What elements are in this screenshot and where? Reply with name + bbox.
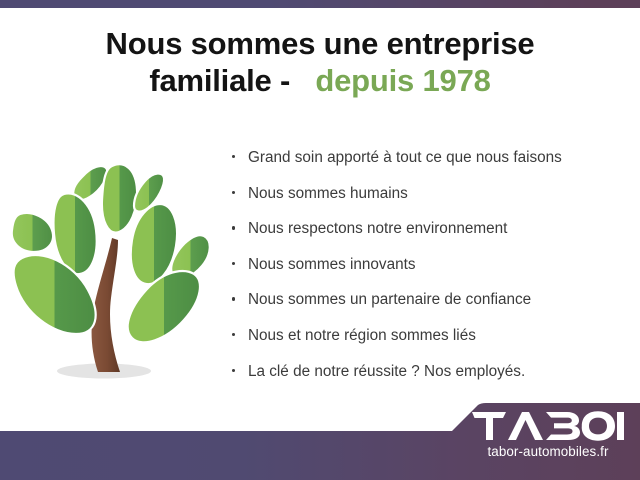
list-item: La clé de notre réussite ? Nos employés. xyxy=(228,362,628,381)
headline-accent-year: depuis 1978 xyxy=(315,63,490,98)
bullet-dot-icon xyxy=(232,297,235,300)
list-item-label: Nous respectons notre environnement xyxy=(248,220,507,237)
slide-canvas: Nous sommes une entreprise familiale - d… xyxy=(0,0,640,480)
headline-line-2: familiale - depuis 1978 xyxy=(0,63,640,100)
bullet-dot-icon xyxy=(232,369,235,372)
headline-line-2-prefix: familiale - xyxy=(149,63,290,98)
tree-illustration xyxy=(8,148,220,392)
list-item: Nous sommes un partenaire de confiance xyxy=(228,290,628,309)
headline-line-1: Nous sommes une entreprise xyxy=(106,26,535,61)
bullet-dot-icon xyxy=(232,333,235,336)
top-accent-bar xyxy=(0,0,640,8)
page-title: Nous sommes une entreprise familiale - d… xyxy=(0,26,640,99)
benefits-list: Grand soin apporté à tout ce que nous fa… xyxy=(228,148,628,397)
logo-url-label: tabor-automobiles.fr xyxy=(472,444,624,459)
list-item-label: Nous sommes innovants xyxy=(248,256,416,273)
list-item: Grand soin apporté à tout ce que nous fa… xyxy=(228,148,628,167)
bullet-dot-icon xyxy=(232,155,235,158)
list-item: Nous sommes innovants xyxy=(228,255,628,274)
list-item-label: Grand soin apporté à tout ce que nous fa… xyxy=(248,149,562,166)
list-item-label: La clé de notre réussite ? Nos employés. xyxy=(248,363,525,380)
bullet-dot-icon xyxy=(232,226,235,229)
bullet-dot-icon xyxy=(232,191,235,194)
list-item-label: Nous sommes humains xyxy=(248,185,408,202)
list-item: Nous sommes humains xyxy=(228,184,628,203)
bullet-dot-icon xyxy=(232,262,235,265)
list-item: Nous respectons notre environnement xyxy=(228,219,628,238)
tree-trunk xyxy=(92,238,120,372)
brand-logo[interactable]: tabor-automobiles.fr xyxy=(472,411,632,471)
list-item-label: Nous sommes un partenaire de confiance xyxy=(248,291,531,308)
list-item-label: Nous et notre région sommes liés xyxy=(248,327,476,344)
list-item: Nous et notre région sommes liés xyxy=(228,326,628,345)
tabor-wordmark-icon xyxy=(472,411,624,441)
